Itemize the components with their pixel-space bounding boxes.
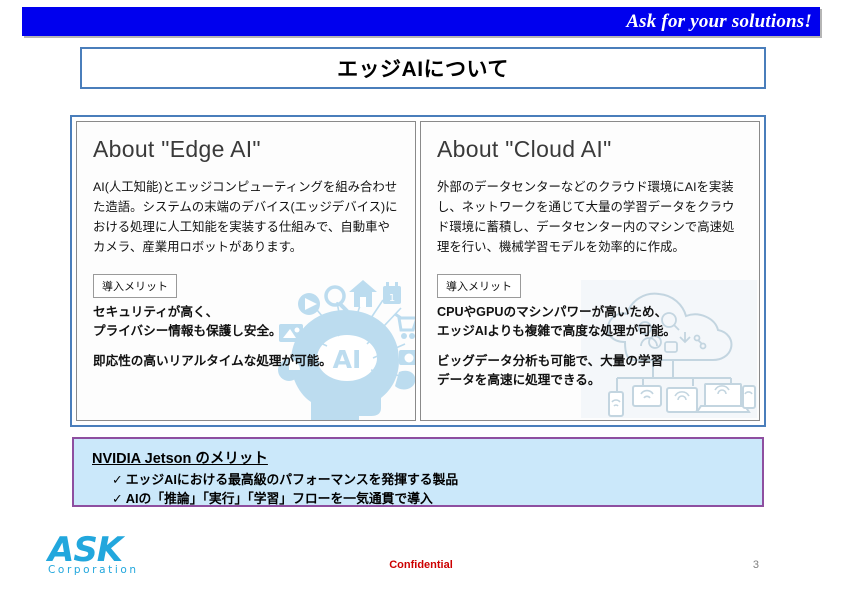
svg-text:1: 1 <box>389 293 395 304</box>
panel-heading-edge-ai: About "Edge AI" <box>93 136 399 163</box>
panel-description-edge-ai: AI(人工知能)とエッジコンピューティングを組み合わせた造語。システムの末端のデ… <box>93 177 399 257</box>
jetson-bullet-item: ✓エッジAIにおける最高級のパフォーマンスを発揮する製品 <box>112 470 762 489</box>
merit-item: 即応性の高いリアルタイムな処理が可能。 <box>93 352 399 371</box>
jetson-bullet-list: ✓エッジAIにおける最高級のパフォーマンスを発揮する製品 ✓AIの「推論」「実行… <box>92 470 762 508</box>
confidential-label: Confidential <box>0 559 842 571</box>
page-title: エッジAIについて <box>337 53 509 83</box>
banner-tagline: Ask for your solutions! <box>626 11 812 33</box>
panel-edge-ai: AI 1 <box>76 121 416 421</box>
jetson-bullet-item: ✓AIの「推論」「実行」「学習」フローを一気通貫で導入 <box>112 489 762 508</box>
merit-item: CPUやGPUのマシンパワーが高いため、エッジAIよりも複雑で高度な処理が可能。 <box>437 303 743 341</box>
slide-title-box: エッジAIについて <box>80 47 766 89</box>
jetson-title: NVIDIA Jetson のメリット <box>92 447 268 468</box>
check-icon: ✓ <box>112 491 123 506</box>
panel-heading-cloud-ai: About "Cloud AI" <box>437 136 743 163</box>
ask-corporation-logo: ASK Corporation <box>48 534 160 580</box>
jetson-bullet-text: AIの「推論」「実行」「学習」フローを一気通貫で導入 <box>126 491 433 506</box>
check-icon: ✓ <box>112 472 123 487</box>
page-number: 3 <box>753 559 759 571</box>
top-banner: Ask for your solutions! <box>22 7 820 36</box>
merit-tag-cloud-ai: 導入メリット <box>437 274 521 298</box>
nvidia-jetson-benefits-box: NVIDIA Jetson のメリット ✓エッジAIにおける最高級のパフォーマン… <box>72 437 764 507</box>
jetson-bullet-text: エッジAIにおける最高級のパフォーマンスを発揮する製品 <box>126 472 458 487</box>
merit-list-edge-ai: セキュリティが高く、プライバシー情報も保護し安全。 即応性の高いリアルタイムな処… <box>93 303 399 371</box>
panel-description-cloud-ai: 外部のデータセンターなどのクラウド環境にAIを実装し、ネットワークを通じて大量の… <box>437 177 743 257</box>
merit-item: セキュリティが高く、プライバシー情報も保護し安全。 <box>93 303 399 341</box>
merit-tag-edge-ai: 導入メリット <box>93 274 177 298</box>
comparison-panels-container: AI 1 <box>70 115 766 427</box>
panel-cloud-ai: About "Cloud AI" 外部のデータセンターなどのクラウド環境にAIを… <box>420 121 760 421</box>
merit-item: ビッグデータ分析も可能で、大量の学習データを高速に処理できる。 <box>437 352 743 390</box>
merit-list-cloud-ai: CPUやGPUのマシンパワーが高いため、エッジAIよりも複雑で高度な処理が可能。… <box>437 303 743 390</box>
